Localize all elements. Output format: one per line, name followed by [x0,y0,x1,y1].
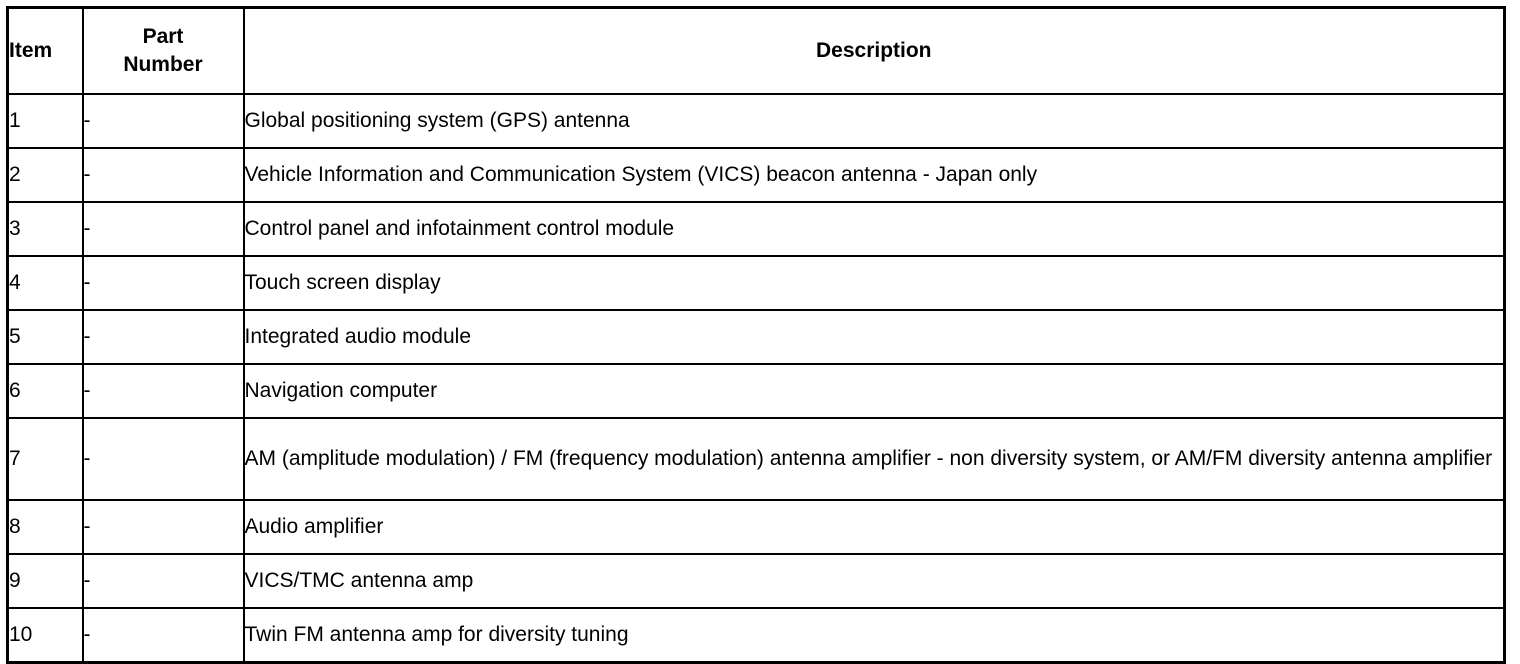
cell-part-number: - [83,256,244,310]
cell-item: 6 [8,364,83,418]
header-row: Item Part Number Description [8,8,1505,95]
cell-part-number: - [83,500,244,554]
cell-part-number: - [83,608,244,662]
table-row: 9 - VICS/TMC antenna amp [8,554,1505,608]
cell-item: 1 [8,94,83,148]
cell-description: Vehicle Information and Communication Sy… [244,148,1505,202]
table-row: 5 - Integrated audio module [8,310,1505,364]
cell-part-number: - [83,202,244,256]
cell-description: Integrated audio module [244,310,1505,364]
cell-item: 7 [8,418,83,500]
cell-part-number: - [83,554,244,608]
table-body: 1 - Global positioning system (GPS) ante… [8,94,1505,662]
cell-item: 3 [8,202,83,256]
table-row: 4 - Touch screen display [8,256,1505,310]
table-row: 6 - Navigation computer [8,364,1505,418]
table-header: Item Part Number Description [8,8,1505,95]
cell-part-number: - [83,364,244,418]
column-header-part-number-line2: Number [84,51,243,79]
table-row: 7 - AM (amplitude modulation) / FM (freq… [8,418,1505,500]
cell-description: Control panel and infotainment control m… [244,202,1505,256]
cell-part-number: - [83,148,244,202]
cell-part-number: - [83,418,244,500]
column-header-description: Description [244,8,1505,95]
cell-part-number: - [83,94,244,148]
cell-part-number: - [83,310,244,364]
cell-description: Navigation computer [244,364,1505,418]
table-row: 8 - Audio amplifier [8,500,1505,554]
cell-description: Twin FM antenna amp for diversity tuning [244,608,1505,662]
table-row: 2 - Vehicle Information and Communicatio… [8,148,1505,202]
parts-table: Item Part Number Description 1 - Global … [6,6,1506,664]
cell-description: Global positioning system (GPS) antenna [244,94,1505,148]
cell-item: 2 [8,148,83,202]
cell-item: 9 [8,554,83,608]
cell-item: 8 [8,500,83,554]
column-header-item: Item [8,8,83,95]
cell-item: 10 [8,608,83,662]
column-header-part-number-line1: Part [84,23,243,51]
column-header-part-number: Part Number [83,8,244,95]
cell-item: 5 [8,310,83,364]
cell-description: Touch screen display [244,256,1505,310]
cell-description: Audio amplifier [244,500,1505,554]
cell-description: AM (amplitude modulation) / FM (frequenc… [244,418,1505,500]
page-root: Item Part Number Description 1 - Global … [0,0,1520,662]
cell-item: 4 [8,256,83,310]
table-row: 1 - Global positioning system (GPS) ante… [8,94,1505,148]
table-row: 10 - Twin FM antenna amp for diversity t… [8,608,1505,662]
cell-description: VICS/TMC antenna amp [244,554,1505,608]
table-row: 3 - Control panel and infotainment contr… [8,202,1505,256]
